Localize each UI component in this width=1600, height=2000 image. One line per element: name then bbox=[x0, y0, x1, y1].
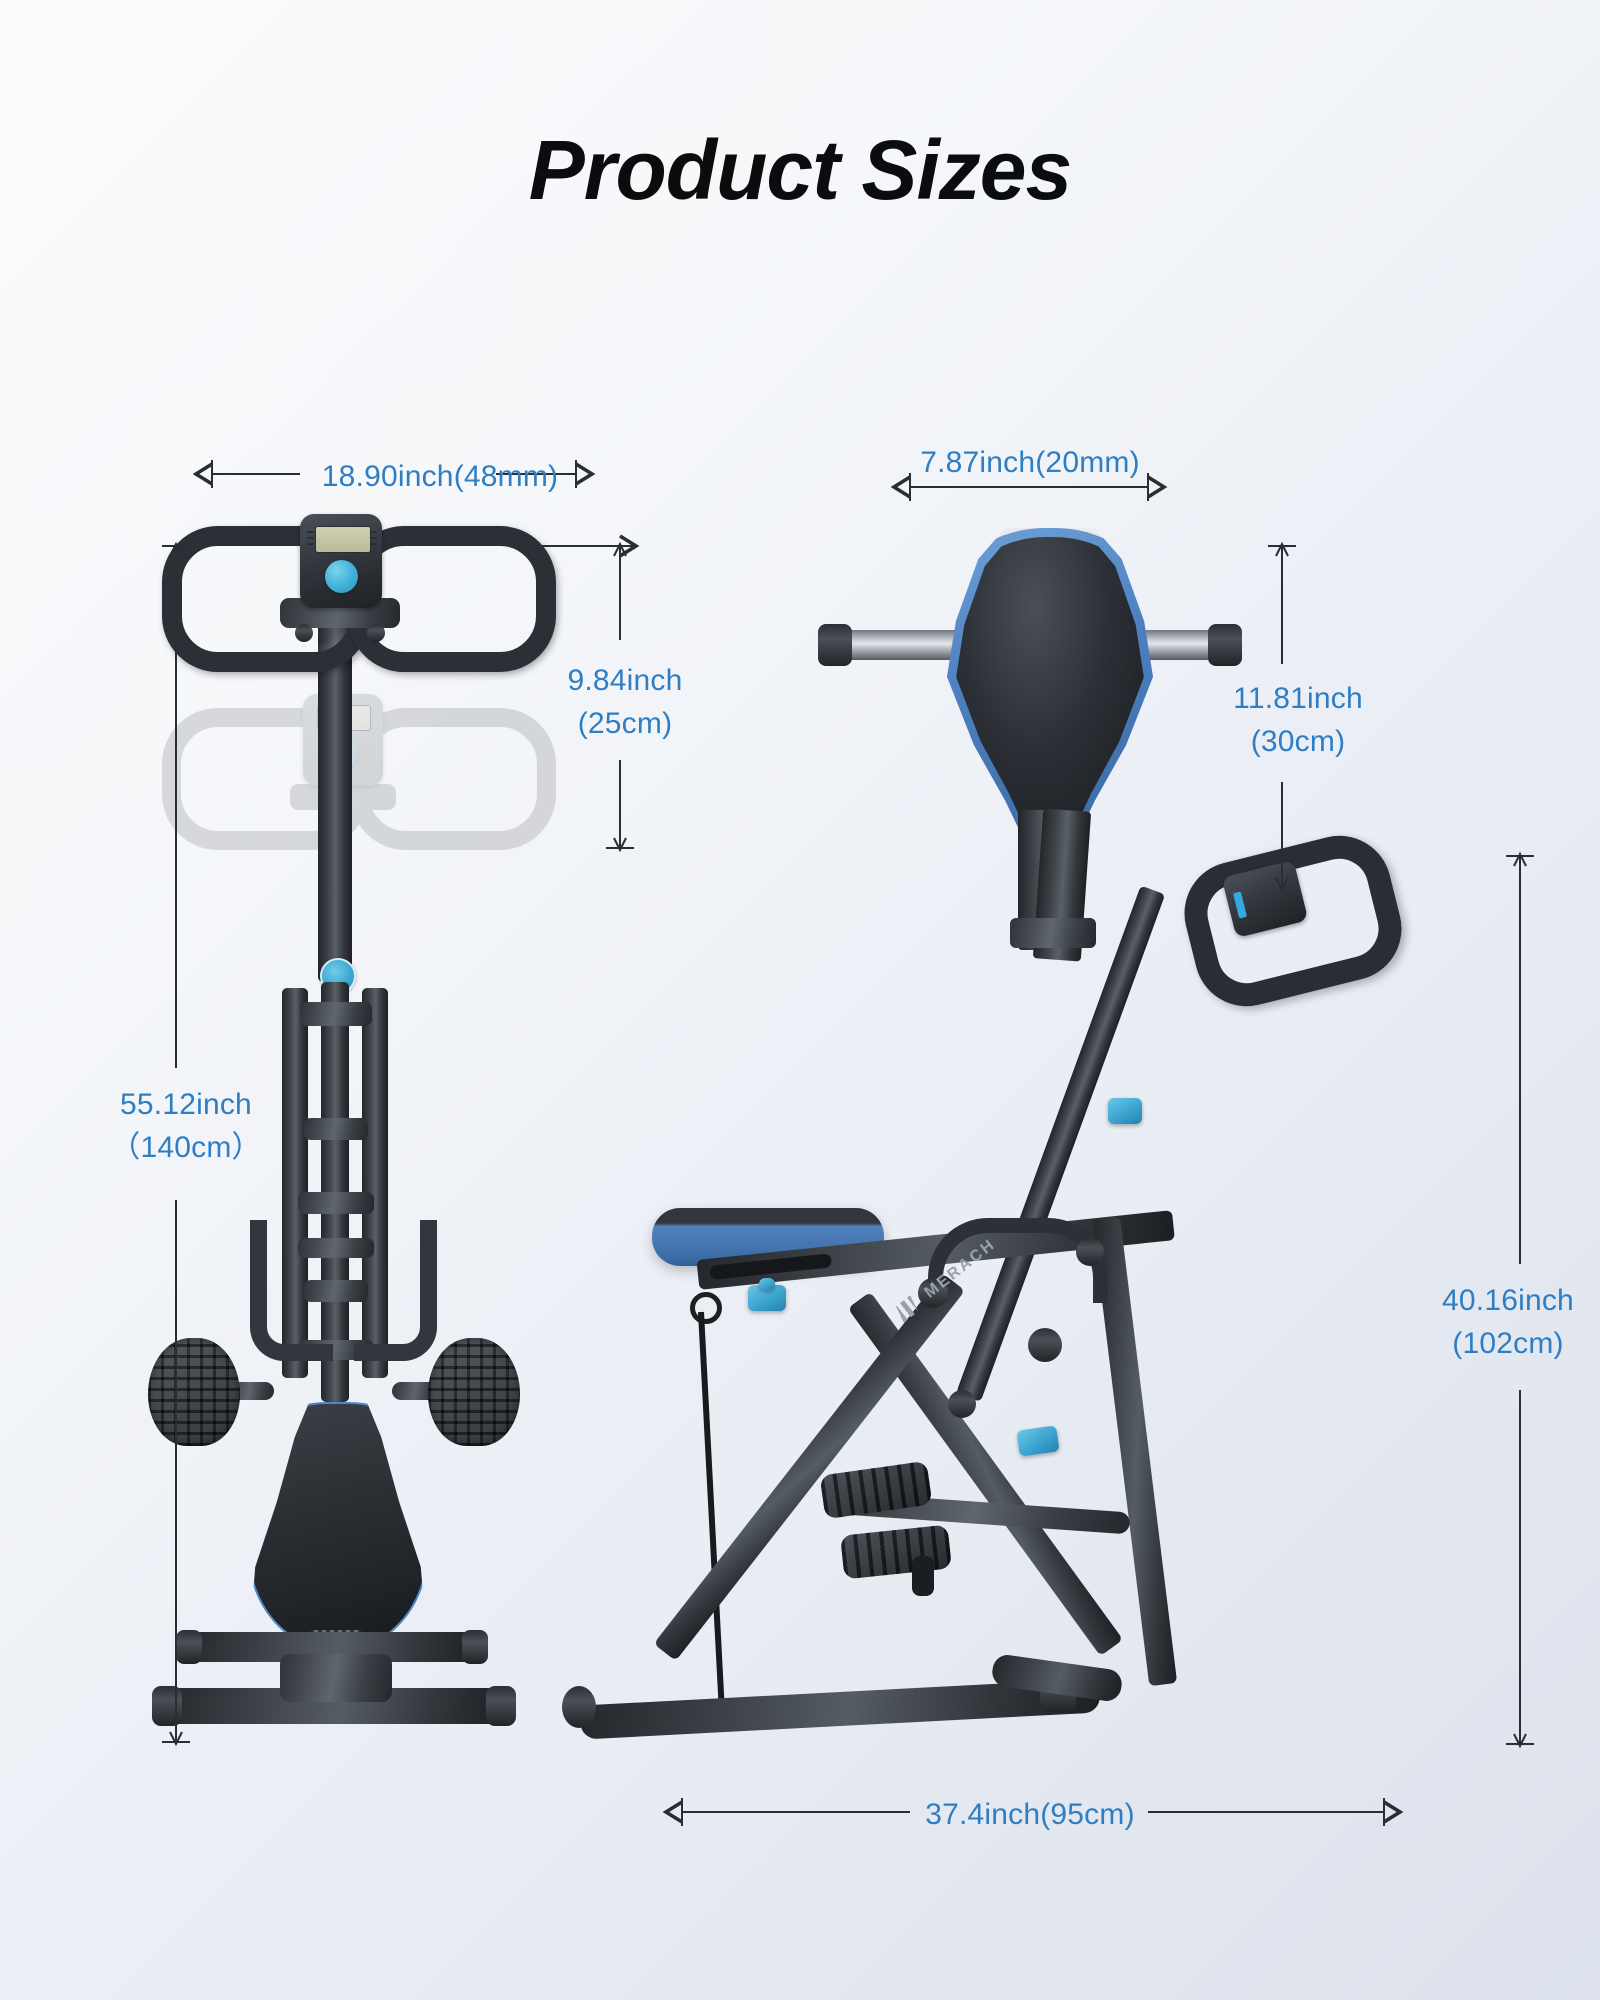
dimension-label-saddle-width: 7.87inch(20mm) bbox=[880, 442, 1180, 483]
dimension-value-side-length: 37.4inch(95cm) bbox=[925, 1798, 1135, 1831]
dimension-label-total-height: 55.12inch （140cm） bbox=[96, 1084, 276, 1169]
dimension-value-saddle-length-metric: (30cm) bbox=[1208, 721, 1388, 764]
stabilizer-upper-cap-left bbox=[176, 1630, 202, 1664]
handlebar-assembly bbox=[140, 520, 540, 650]
side-handle-mast bbox=[956, 886, 1165, 1402]
console-indicator-left-3 bbox=[307, 543, 314, 545]
console-indicator-right-3 bbox=[370, 543, 377, 545]
pedal-strap bbox=[912, 1556, 934, 1596]
pivot-bolt-4 bbox=[1076, 1238, 1104, 1266]
console-power-button[interactable] bbox=[325, 560, 358, 593]
pedal-left[interactable] bbox=[148, 1338, 240, 1446]
dimension-value-total-height-metric: （140cm） bbox=[96, 1127, 276, 1170]
seat-adjust-knob-stem bbox=[759, 1278, 775, 1290]
pedal-arm-left bbox=[250, 1220, 333, 1361]
dimension-value-saddle-length-inch: 11.81inch bbox=[1208, 678, 1388, 721]
handlebar-clamp-left bbox=[295, 624, 313, 642]
pedal-right[interactable] bbox=[428, 1338, 520, 1446]
resistance-cable bbox=[698, 1312, 725, 1710]
stabilizer-lower-cap-left bbox=[152, 1686, 182, 1726]
console-indicator-left bbox=[307, 531, 314, 533]
dimension-value-handlebar-travel-metric: (25cm) bbox=[540, 703, 710, 746]
front-bracket-2 bbox=[304, 1118, 368, 1140]
dimension-value-total-height-inch: 55.12inch bbox=[96, 1084, 276, 1127]
dimension-label-handlebar-travel: 9.84inch (25cm) bbox=[540, 660, 710, 745]
dimension-label-side-height: 40.16inch (102cm) bbox=[1418, 1280, 1598, 1365]
stabilizer-lower-cap-right bbox=[486, 1686, 516, 1726]
side-pedal-lower[interactable] bbox=[840, 1524, 952, 1579]
saddle-crossbar-cap-left bbox=[818, 624, 852, 666]
stabilizer-upper-cap-right bbox=[462, 1630, 488, 1664]
console-indicator-right bbox=[370, 531, 377, 533]
saddle-crossbar-cap-right bbox=[1208, 624, 1242, 666]
product-sizes-diagram: Product Sizes bbox=[0, 0, 1600, 2000]
side-view-illustration: MERACH bbox=[640, 830, 1470, 1780]
dimension-value-handlebar-travel-inch: 9.84inch bbox=[540, 660, 710, 703]
pivot-bolt-3 bbox=[948, 1390, 976, 1418]
dimension-label-side-length: 37.4inch(95cm) bbox=[900, 1794, 1160, 1835]
dimension-value-saddle-width: 7.87inch(20mm) bbox=[920, 446, 1140, 479]
front-bracket-3 bbox=[298, 1192, 374, 1214]
page-title: Product Sizes bbox=[0, 128, 1600, 212]
pedal-arm-right bbox=[354, 1220, 437, 1361]
pivot-bolt-2 bbox=[1028, 1328, 1062, 1362]
resistance-cable-hook bbox=[690, 1292, 722, 1324]
dimension-value-handlebar-width: 18.90inch(48mm) bbox=[322, 460, 558, 493]
console-indicator-left-2 bbox=[307, 537, 314, 539]
console-lcd-screen bbox=[315, 526, 371, 553]
mast-lock-knob[interactable] bbox=[1108, 1098, 1142, 1124]
resistance-knob[interactable] bbox=[1016, 1425, 1059, 1456]
dimension-value-side-height-inch: 40.16inch bbox=[1418, 1280, 1598, 1323]
dimension-label-saddle-length: 11.81inch (30cm) bbox=[1208, 678, 1388, 763]
seat-front-view bbox=[248, 1402, 428, 1652]
dimension-value-side-height-metric: (102cm) bbox=[1418, 1323, 1598, 1366]
side-front-foot-cap bbox=[562, 1686, 596, 1728]
front-bracket-1 bbox=[300, 1002, 372, 1026]
dimension-label-handlebar-width: 18.90inch(48mm) bbox=[290, 456, 590, 497]
console-display[interactable] bbox=[300, 514, 382, 608]
console-indicator-right-2 bbox=[370, 537, 377, 539]
stabilizer-connector bbox=[280, 1654, 392, 1702]
handlebar-clamp-right bbox=[367, 624, 385, 642]
